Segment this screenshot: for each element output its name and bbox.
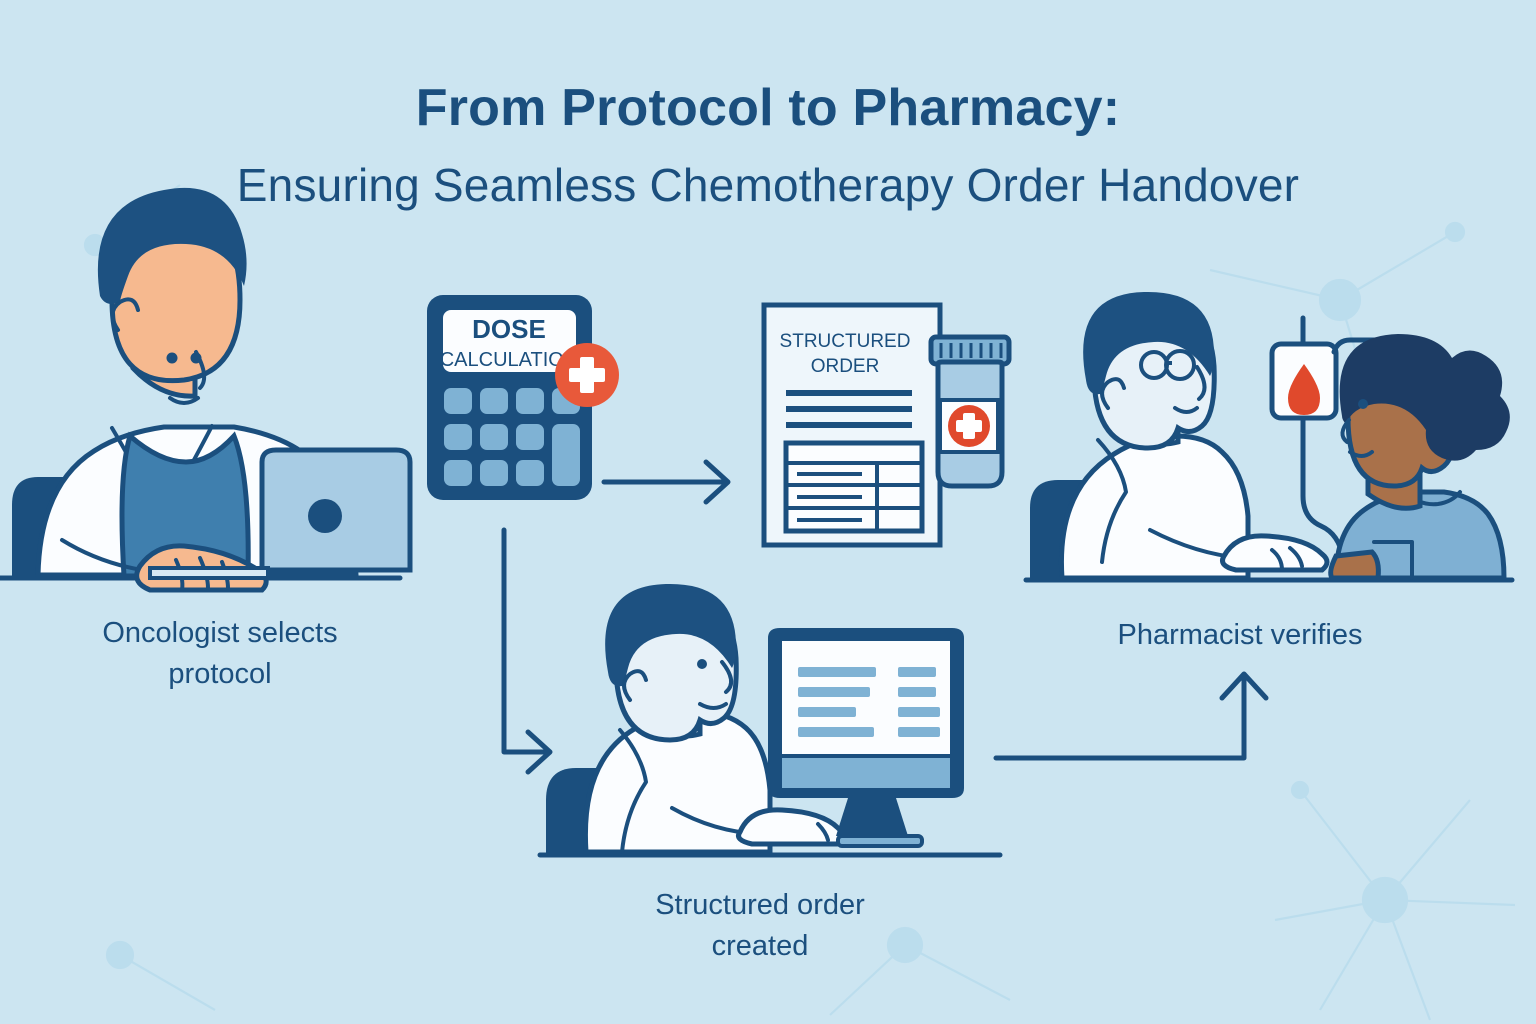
medicine-bottle-icon [931, 337, 1009, 486]
laptop-logo-icon [308, 499, 342, 533]
illustration-canvas: .ln { stroke:#1b4f7e; stroke-width:5; fi… [0, 0, 1536, 1024]
calc-key-5[interactable] [444, 424, 472, 450]
scene-dose-calculator: DOSE CALCULATION [427, 295, 619, 500]
scene-pharmacist-and-patient [1026, 292, 1512, 580]
caption-oncologist-selects-protocol: Oncologist selects protocol [30, 613, 410, 695]
plus-badge-icon-horizontal [569, 368, 605, 382]
monitor-chin [782, 758, 950, 788]
doc-title-line2: ORDER [811, 356, 880, 377]
caption-pharmacist-verifies: Pharmacist verifies [1050, 615, 1430, 656]
doc-table [786, 443, 922, 531]
monitor-base [838, 836, 922, 846]
calc-key-2[interactable] [480, 388, 508, 414]
calc-key-10[interactable] [516, 460, 544, 486]
arrow-calculator-to-monitor [504, 530, 550, 772]
flow-illustration: .ln { stroke:#1b4f7e; stroke-width:5; fi… [0, 0, 1536, 1024]
arrow-calculator-to-document [604, 462, 728, 502]
calculator-display-line1: DOSE [472, 314, 546, 344]
eye-left-1 [167, 353, 178, 364]
scene-structured-order-document: STRUCTURED ORDER [764, 305, 1009, 545]
monitor-stand [836, 798, 908, 836]
page-title-line1: From Protocol to Pharmacy: [0, 78, 1536, 138]
calc-key-3[interactable] [516, 388, 544, 414]
plus-badge [555, 343, 619, 407]
scene-clinician-at-desktop [540, 584, 1000, 855]
calc-key-enter[interactable] [552, 424, 580, 486]
arrow-monitor-to-pharmacist [996, 674, 1266, 758]
patient-arm [1331, 552, 1379, 578]
calc-key-7[interactable] [516, 424, 544, 450]
mouth-left [170, 398, 198, 403]
calc-key-6[interactable] [480, 424, 508, 450]
iv-tube [1303, 418, 1343, 558]
page-title-line2: Ensuring Seamless Chemotherapy Order Han… [0, 158, 1536, 212]
scene-oncologist-at-laptop [0, 188, 410, 590]
calc-key-1[interactable] [444, 388, 472, 414]
calc-key-9[interactable] [480, 460, 508, 486]
doc-title-line1: STRUCTURED [780, 331, 911, 352]
patient-eye [1358, 399, 1368, 409]
laptop-base [150, 568, 268, 578]
calc-key-8[interactable] [444, 460, 472, 486]
monitor-screen [782, 641, 950, 754]
caption-structured-order-created: Structured order created [595, 885, 925, 967]
eye-center [697, 659, 707, 669]
